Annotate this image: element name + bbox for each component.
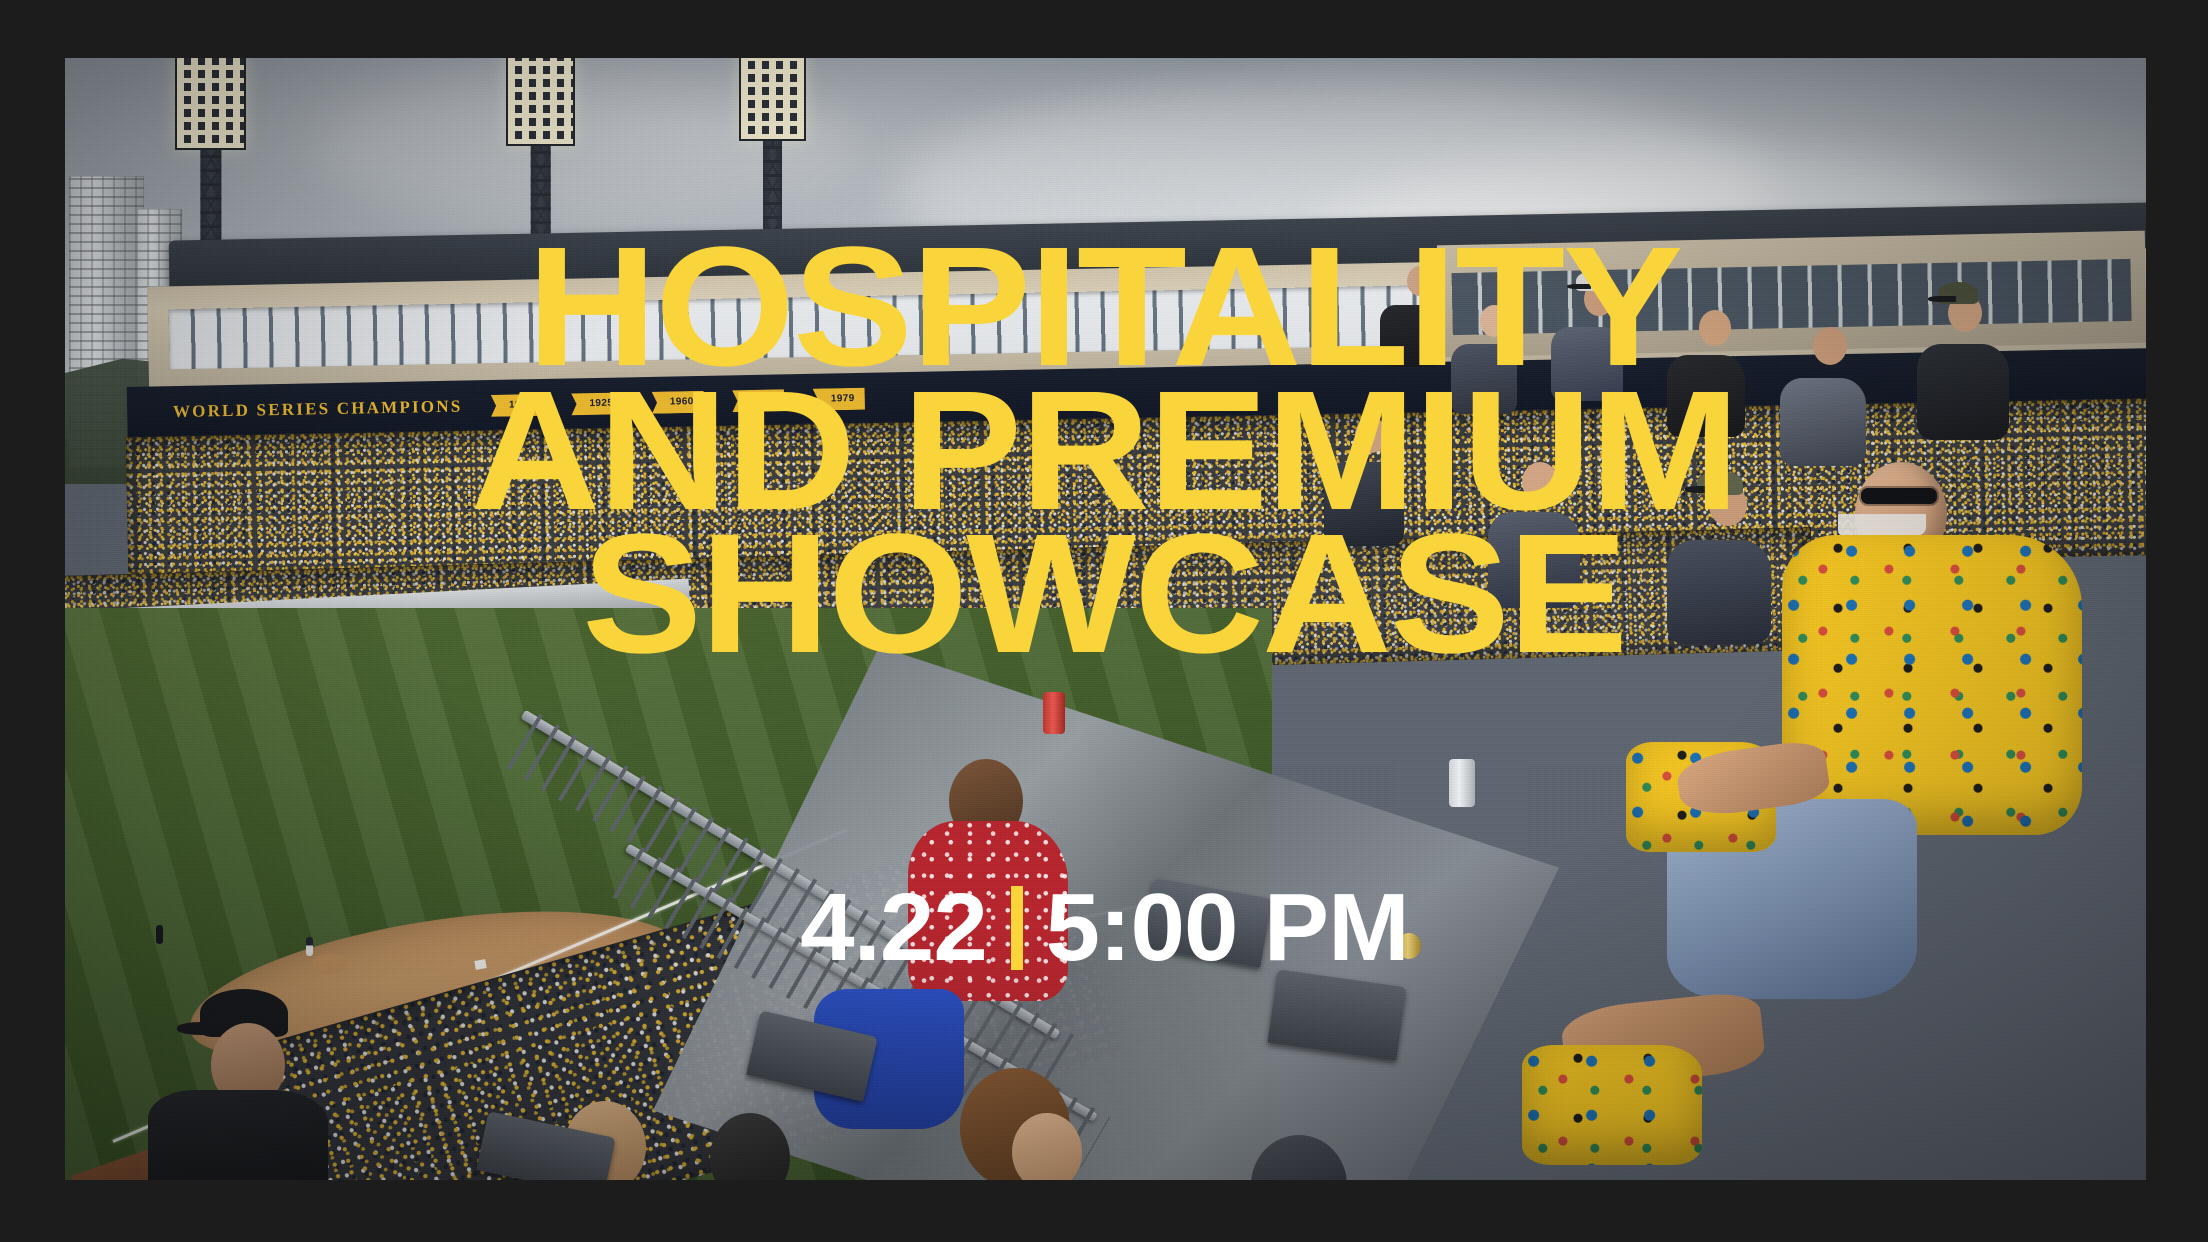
light-tower-head [739, 58, 806, 141]
light-tower-head [506, 58, 575, 146]
stadium-photo: WORLD SERIES CHAMPIONS 1909 1925 1960 19… [65, 58, 2146, 1180]
fan-body [1780, 378, 1866, 466]
beverage-can [1449, 759, 1475, 807]
fan-head [1480, 305, 1508, 337]
pennant: 1979 [813, 387, 865, 410]
hawaiian-shirt [1782, 535, 2082, 835]
fan-cap [1697, 471, 1743, 495]
pennant: 1971 [733, 389, 785, 412]
pennant: 1909 [491, 393, 543, 416]
fan-body [1667, 540, 1771, 644]
umpire [156, 925, 163, 944]
fan-head [1407, 266, 1433, 296]
base [475, 959, 487, 970]
sunglasses-icon [1861, 488, 1937, 504]
poster: WORLD SERIES CHAMPIONS 1909 1925 1960 19… [0, 0, 2208, 1242]
red-polka-dot-dress [908, 821, 1068, 1001]
suite-windows [1452, 258, 2132, 334]
light-tower [506, 58, 575, 146]
fan-body [1324, 462, 1404, 546]
beverage-cup [1397, 933, 1421, 959]
light-tower-head [175, 58, 246, 150]
fan-body [1451, 344, 1517, 414]
fan-body [1488, 512, 1580, 608]
fan-head [1522, 462, 1558, 502]
pennant: 1960 [652, 390, 704, 413]
fan-body [148, 1090, 328, 1180]
suite-level [1437, 230, 2146, 357]
fan-cap [1576, 271, 1610, 291]
pennant: 1925 [572, 392, 624, 415]
hawaiian-shirt-sleeve [1522, 1045, 1702, 1165]
fan-body [1917, 344, 2009, 440]
fan-head [1699, 310, 1731, 346]
player [306, 937, 313, 956]
light-tower [175, 58, 246, 150]
fan-body [1667, 355, 1745, 437]
beverage-can [1043, 692, 1065, 734]
light-tower [739, 58, 806, 141]
fan-body [1551, 327, 1623, 401]
champions-banner-text: WORLD SERIES CHAMPIONS [173, 396, 463, 422]
fan-body [1380, 305, 1440, 367]
fan-cap [1938, 282, 1978, 304]
